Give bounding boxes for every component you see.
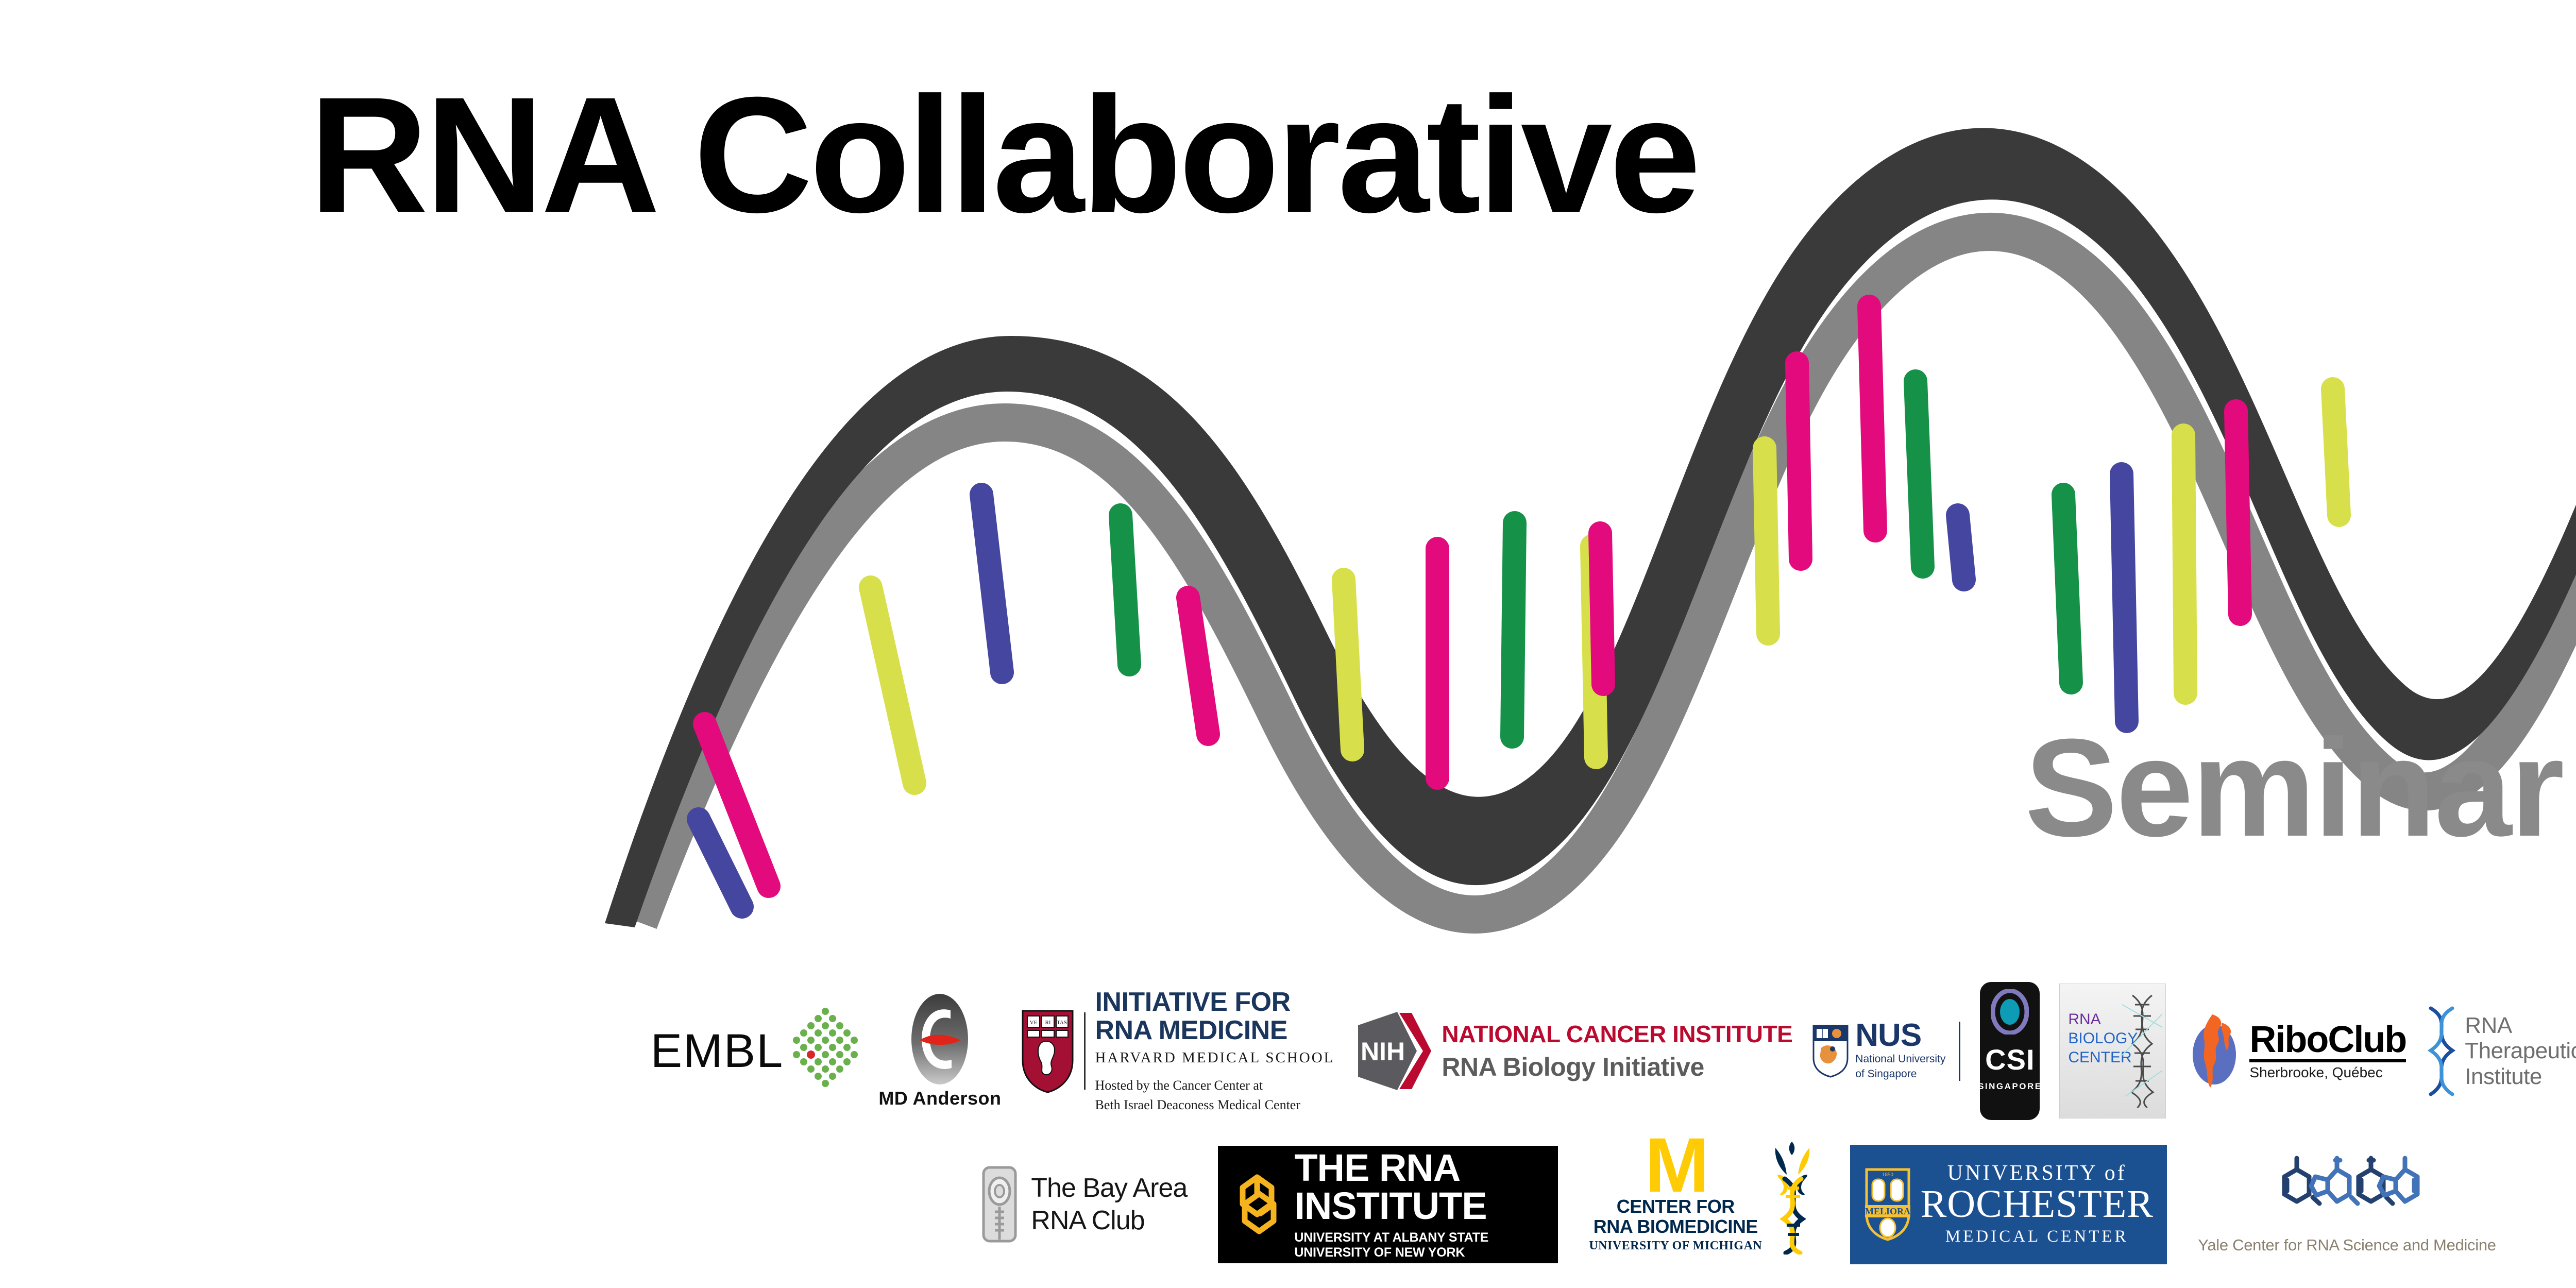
csi-wordmark: CSI — [1985, 1043, 2035, 1076]
irm-line3: HARVARD MEDICAL SCHOOL — [1095, 1049, 1334, 1066]
logo-rna-biology-center[interactable]: RNA BIOLOGY CENTER — [2059, 984, 2166, 1118]
irm-line2: RNA MEDICINE — [1095, 1017, 1334, 1045]
riboclub-wordmark: RiboClub — [2249, 1021, 2406, 1058]
svg-text:RI: RI — [1045, 1020, 1051, 1026]
riboclub-underline — [2249, 1059, 2406, 1062]
irm-host-line2: Beth Israel Deaconess Medical Center — [1095, 1096, 1334, 1114]
nus-wordmark: NUS — [1855, 1021, 1945, 1051]
csi-ring-icon — [1991, 989, 2029, 1035]
umich-caduceus-helix-icon — [1765, 1139, 1819, 1255]
partner-logos-row-1: EMBL — [402, 981, 2576, 1121]
yale-wordmark: Yale Center for RNA Science and Medicine — [2198, 1236, 2496, 1255]
riboclub-globe-icon — [2185, 1007, 2247, 1095]
michigan-block-m-icon: M — [1645, 1133, 1706, 1197]
divider — [1959, 1022, 1960, 1081]
bay-line1: The Bay Area — [1031, 1174, 1187, 1202]
bay-area-ribosome-icon — [981, 1164, 1022, 1244]
nus-subline1: National University — [1855, 1053, 1945, 1066]
logo-rna-therapeutics-institute[interactable]: RNA Therapeutics Institute UMASS MEDICAL… — [2426, 981, 2576, 1121]
harvard-veritas-shield-icon: VERITAS — [1021, 1009, 1075, 1094]
logo-csi-singapore[interactable]: CSI SINGAPORE — [1980, 982, 2040, 1120]
rbc-helix-icon — [2122, 993, 2162, 1109]
yale-nucleobase-rings-icon — [2270, 1154, 2425, 1234]
logo-nus[interactable]: NUS National University of Singapore — [1812, 981, 1960, 1121]
albany-knot-icon — [1229, 1172, 1287, 1236]
page-subtitle: Seminar Series — [2025, 719, 2576, 858]
svg-text:MELIORA: MELIORA — [1865, 1206, 1910, 1216]
umich-line3: UNIVERSITY OF MICHIGAN — [1589, 1239, 1762, 1253]
rti-helix-icon — [2426, 1006, 2458, 1096]
partner-logos-row-2: The Bay Area RNA Club THE RNA INSTITUTE … — [850, 1133, 2576, 1275]
svg-text:VE: VE — [1030, 1020, 1038, 1026]
umich-line2: RNA BIOMEDICINE — [1594, 1217, 1758, 1237]
embl-wordmark: EMBL — [651, 1024, 784, 1078]
logo-umich-rna-biomedicine[interactable]: M CENTER FOR RNA BIOMEDICINE UNIVERSITY … — [1589, 1133, 1819, 1275]
banner-canvas: RNA Collaborative Seminar Series EMBL — [0, 0, 2576, 1288]
irm-host-line1: Hosted by the Cancer Center at — [1095, 1077, 1334, 1094]
tri-line1: THE RNA INSTITUTE — [1294, 1149, 1558, 1225]
logo-md-anderson[interactable]: MD Anderson — [878, 981, 1001, 1121]
rochester-line3: MEDICAL CENTER — [1945, 1227, 2129, 1246]
rti-line3: Institute — [2465, 1064, 2576, 1089]
logo-rochester-medical-center[interactable]: MELIORA 1850 UNIVERSITY of ROCHESTER MED… — [1850, 1145, 2167, 1264]
bay-line2: RNA Club — [1031, 1207, 1187, 1235]
logo-yale-rna-science-medicine[interactable]: Yale Center for RNA Science and Medicine — [2198, 1133, 2496, 1275]
md-anderson-c-icon — [901, 993, 978, 1086]
logo-harvard-initiative-rna-medicine[interactable]: VERITAS INITIATIVE FOR RNA MEDICINE HARV… — [1021, 981, 1334, 1121]
tri-line2: UNIVERSITY AT ALBANY STATE UNIVERSITY OF… — [1294, 1230, 1558, 1260]
csi-subline: SINGAPORE — [1978, 1081, 2042, 1092]
svg-text:TAS: TAS — [1057, 1020, 1067, 1026]
nus-crest-icon — [1812, 1024, 1849, 1078]
md-anderson-wordmark: MD Anderson — [878, 1088, 1001, 1109]
logo-bay-area-rna-club[interactable]: The Bay Area RNA Club — [981, 1133, 1187, 1275]
logo-the-rna-institute[interactable]: THE RNA INSTITUTE UNIVERSITY AT ALBANY S… — [1218, 1146, 1558, 1263]
riboclub-subline: Sherbrooke, Québec — [2249, 1064, 2382, 1081]
page-title: RNA Collaborative — [309, 72, 1698, 237]
irm-line1: INITIATIVE FOR — [1095, 989, 1334, 1016]
umich-line1: CENTER FOR — [1617, 1197, 1735, 1217]
svg-text:NIH: NIH — [1361, 1037, 1405, 1066]
nih-hexagon-icon: NIH — [1354, 1010, 1431, 1092]
svg-text:1850: 1850 — [1882, 1172, 1894, 1178]
rochester-line1: UNIVERSITY of — [1947, 1162, 2127, 1184]
rti-line2: Therapeutics — [2465, 1038, 2576, 1063]
logo-riboclub[interactable]: RiboClub Sherbrooke, Québec — [2185, 981, 2406, 1121]
rochester-shield-icon: MELIORA 1850 — [1864, 1167, 1911, 1242]
rti-line1: RNA — [2465, 1013, 2576, 1038]
divider — [1084, 1012, 1086, 1090]
rochester-line2: ROCHESTER — [1921, 1184, 2154, 1225]
nci-line1: NATIONAL CANCER INSTITUTE — [1442, 1020, 1792, 1048]
nus-subline2: of Singapore — [1855, 1067, 1945, 1081]
logo-nci-rna-biology-initiative[interactable]: NIH NATIONAL CANCER INSTITUTE RNA Biolog… — [1354, 981, 1792, 1121]
nci-line2: RNA Biology Initiative — [1442, 1052, 1792, 1082]
logo-embl[interactable]: EMBL — [651, 981, 859, 1121]
embl-dot-lattice-icon — [792, 1006, 859, 1096]
